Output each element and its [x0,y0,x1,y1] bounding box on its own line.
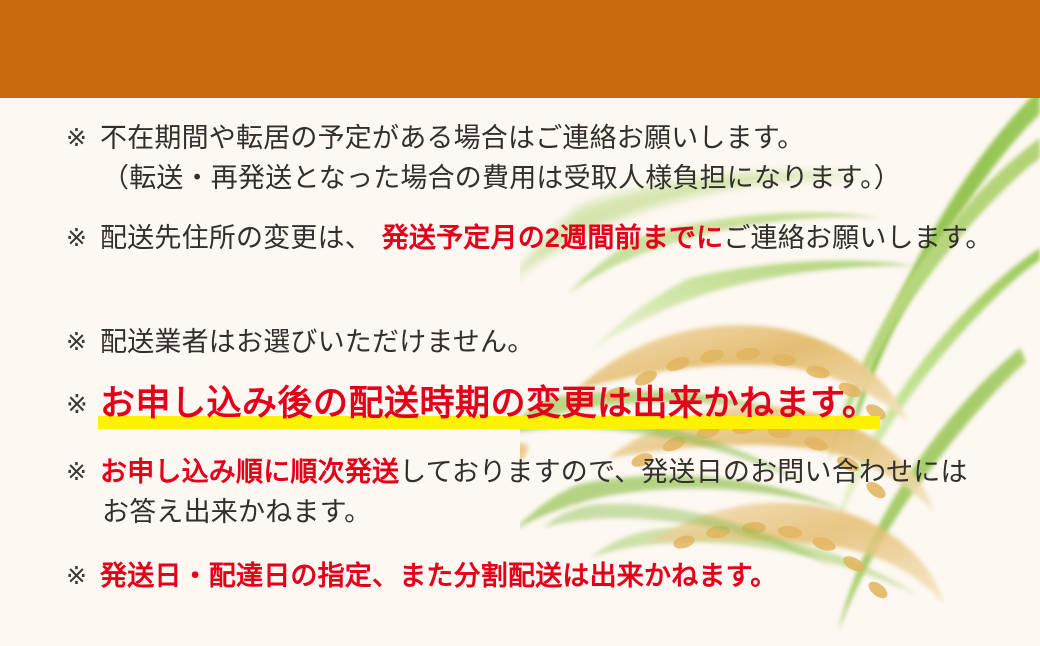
notice-item-6: ※ 発送日・配達日の指定、また分割配送は出来かねます。 [66,556,777,596]
notice-item-4-lines: お申し込み後の配送時期の変更は出来かねます。 [100,378,878,430]
notice-line: 配送業者はお選びいただけません。 [100,327,534,357]
notice-item-2: ※ 配送先住所の変更は、 発送予定月の2週間前までにご連絡お願いします。 [66,218,993,258]
bullet-mark-icon: ※ [66,218,100,258]
notice-item-4-emphasis: ※ お申し込み後の配送時期の変更は出来かねます。 [66,378,878,430]
bullet-mark-icon: ※ [66,118,100,158]
notice-text-emphasis: 発送予定月の2週間前までに [382,223,724,253]
notice-item-5: ※ お申し込み順に順次発送しておりますので、発送日のお問い合わせには お答え出来… [66,452,1040,532]
shipping-notice-banner: 配送についてご注意 ※ 不在期間や転居の予定がある場合はご連絡お願いします。 （… [0,0,1040,646]
notice-text-emphasis: お申し込み後の配送時期の変更は出来かねます。 [100,384,878,423]
notice-line: 発送日・配達日の指定、また分割配送は出来かねます。 [100,561,777,591]
highlighted-warning-text: お申し込み後の配送時期の変更は出来かねます。 [100,378,878,430]
header-band [0,0,1040,98]
notice-text: ご連絡お願いします。 [723,223,992,253]
notice-item-2-lines: 配送先住所の変更は、 発送予定月の2週間前までにご連絡お願いします。 [100,218,993,258]
notice-item-1: ※ 不在期間や転居の予定がある場合はご連絡お願いします。 （転送・再発送となった… [66,118,1040,198]
notice-text: （転送・再発送となった場合の費用は受取人様負担になります。） [102,163,901,193]
notice-line: お申し込み順に順次発送しておりますので、発送日のお問い合わせには [100,457,968,487]
notice-text-emphasis: 発送日・配達日の指定、また分割配送は出来かねます。 [100,561,777,591]
notice-line: （転送・再発送となった場合の費用は受取人様負担になります。） [100,163,901,193]
bullet-mark-icon: ※ [66,322,100,362]
notice-item-5-lines: お申し込み順に順次発送しておりますので、発送日のお問い合わせには お答え出来かね… [100,452,1040,532]
notice-line: 不在期間や転居の予定がある場合はご連絡お願いします。 [100,123,805,153]
bullet-mark-icon: ※ [66,556,100,596]
notice-item-3: ※ 配送業者はお選びいただけません。 [66,322,534,362]
notice-item-1-lines: 不在期間や転居の予定がある場合はご連絡お願いします。 （転送・再発送となった場合… [100,118,1040,198]
bullet-mark-icon: ※ [66,378,100,430]
notice-line: お申し込み後の配送時期の変更は出来かねます。 [100,384,878,423]
notice-line: お答え出来かねます。 [100,497,371,527]
notice-line: 配送先住所の変更は、 [100,223,380,253]
notice-text-emphasis: お申し込み順に順次発送 [100,457,399,487]
notice-list: ※ 不在期間や転居の予定がある場合はご連絡お願いします。 （転送・再発送となった… [0,98,1040,646]
notice-text: しておりますので、発送日のお問い合わせには [399,457,968,487]
notice-line: 発送予定月の2週間前までにご連絡お願いします。 [380,223,993,253]
notice-item-3-lines: 配送業者はお選びいただけません。 [100,322,534,362]
notice-text: 配送先住所の変更は、 [100,223,372,253]
notice-text: お答え出来かねます。 [102,497,371,527]
notice-text: 不在期間や転居の予定がある場合はご連絡お願いします。 [100,123,805,153]
notice-item-6-lines: 発送日・配達日の指定、また分割配送は出来かねます。 [100,556,777,596]
bullet-mark-icon: ※ [66,452,100,492]
notice-text: 配送業者はお選びいただけません。 [100,327,534,357]
